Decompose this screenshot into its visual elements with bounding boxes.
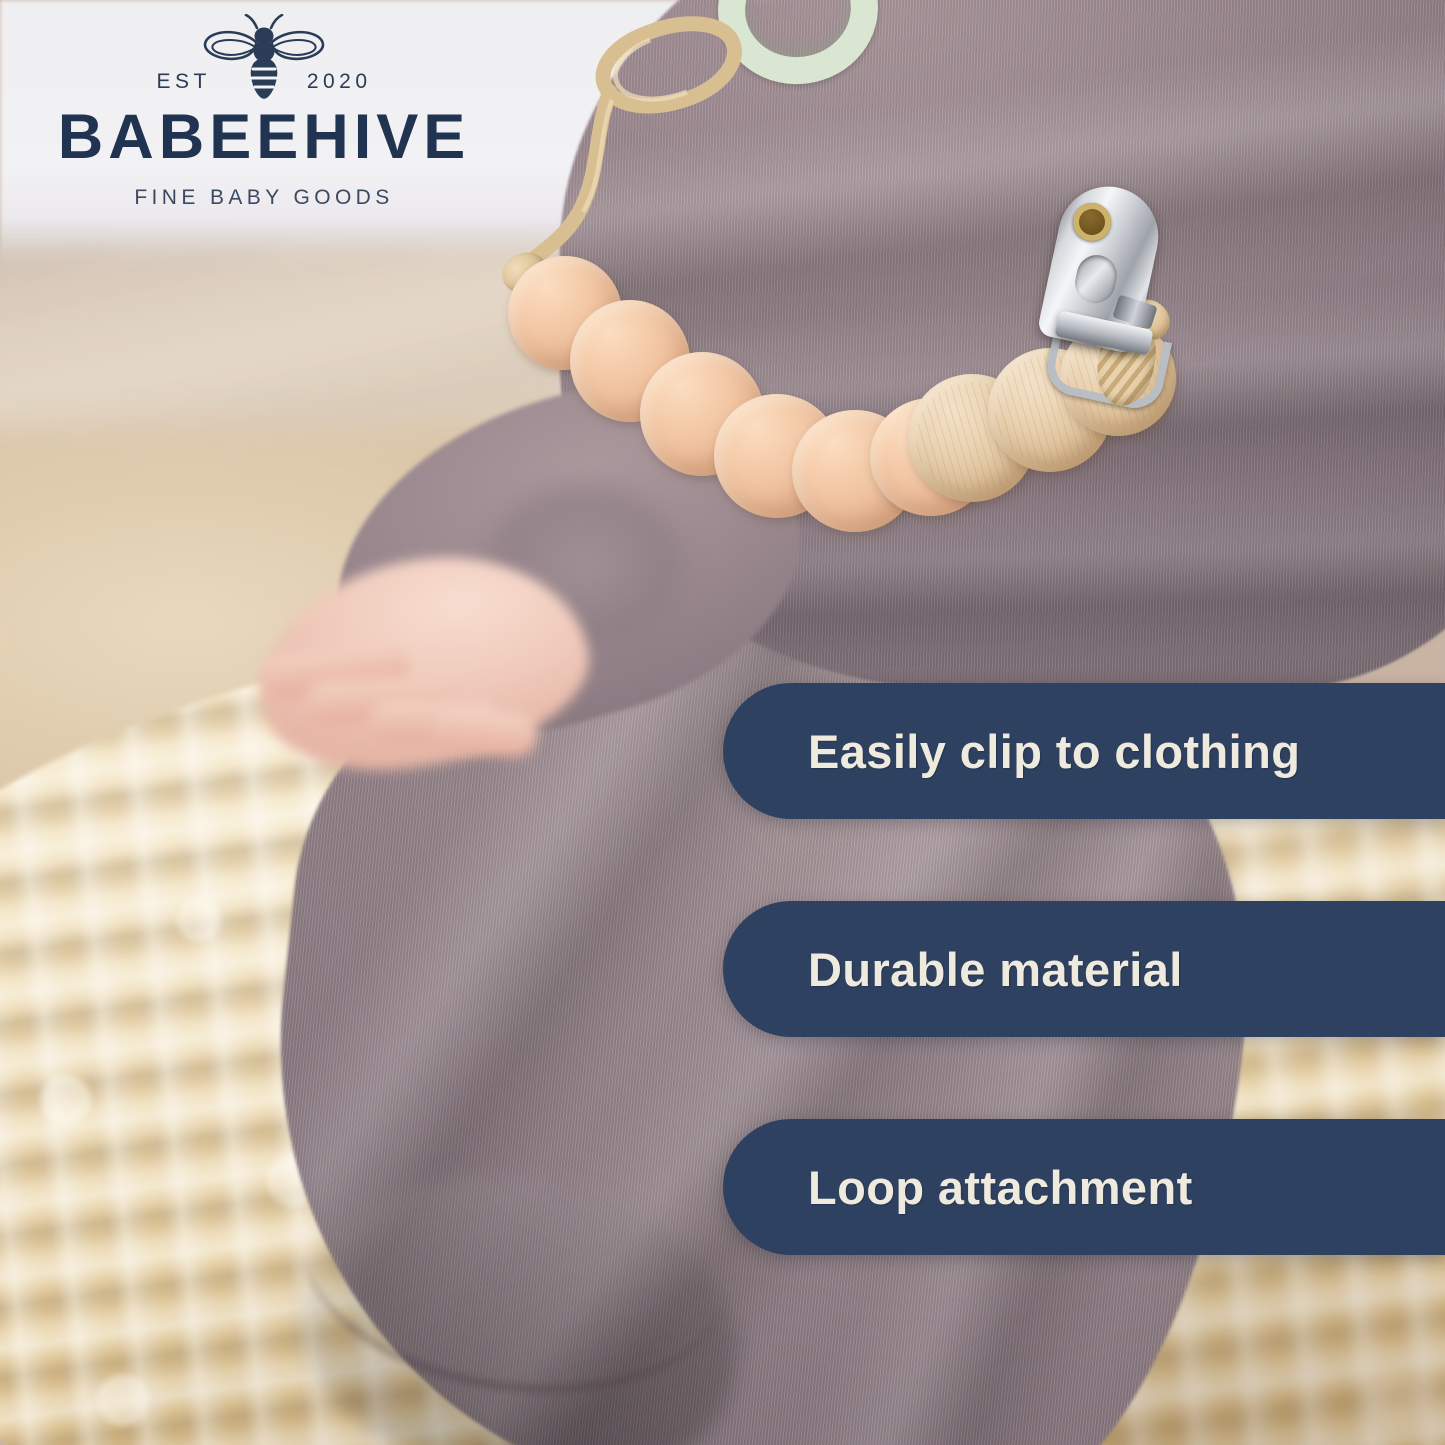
feature-badge-label: Durable material xyxy=(808,942,1183,997)
feature-badge: Durable material xyxy=(723,901,1445,1037)
est-label: EST xyxy=(156,70,210,94)
feature-badge: Easily clip to clothing xyxy=(723,683,1445,819)
est-year: 2020 xyxy=(307,70,372,94)
feature-badge-label: Loop attachment xyxy=(808,1160,1193,1215)
product-image-canvas: EST 2020 BABEEHIVE FINE BABY GOODS Easil… xyxy=(0,0,1445,1445)
feature-badge: Loop attachment xyxy=(723,1119,1445,1255)
brand-name: BABEEHIVE xyxy=(24,106,504,169)
feature-badge-label: Easily clip to clothing xyxy=(808,724,1300,779)
brand-tagline: FINE BABY GOODS xyxy=(24,186,504,210)
brand-logo: EST 2020 BABEEHIVE FINE BABY GOODS xyxy=(24,14,504,226)
